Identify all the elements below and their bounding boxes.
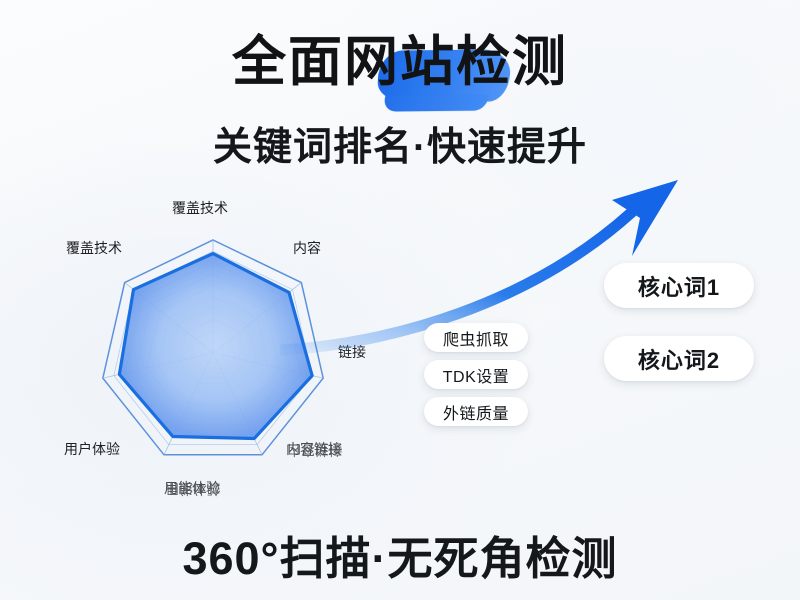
pill-backlink-label: 外链质量 bbox=[443, 400, 509, 424]
pill-keyword-2[interactable]: 核心词2 bbox=[604, 336, 754, 381]
radar-label-bottom-ghost: 用能体验 bbox=[166, 479, 221, 499]
radar-label-lower-right-ghost: 内容链接 bbox=[288, 440, 343, 460]
radar-label-lower-left: 用户体验 bbox=[64, 439, 120, 459]
radar-label-lower-right: 内容链接 内容链接 bbox=[286, 439, 342, 459]
pill-backlink-check[interactable]: 外链质量 bbox=[424, 397, 528, 426]
page-title: 全面网站检测 bbox=[232, 34, 568, 91]
bottom-caption: 360°扫描·无死角检测 bbox=[0, 522, 800, 587]
pill-crawl-check[interactable]: 爬虫抓取 bbox=[424, 323, 528, 352]
page-title-after: 检测 bbox=[456, 32, 568, 92]
radar-label-top: 覆盖技术 bbox=[172, 198, 228, 218]
poster-canvas: 全面网站检测 关键词排名·快速提升 覆盖技术 内容 bbox=[0, 0, 800, 600]
pill-keyword-1[interactable]: 核心词1 bbox=[604, 263, 754, 308]
radar-data-area bbox=[119, 254, 312, 439]
page-title-before: 全面 bbox=[232, 32, 344, 92]
pill-tdk-label: TDK设置 bbox=[443, 363, 510, 387]
radar-label-bottom: 用能体验 用能体验 bbox=[164, 478, 220, 498]
page-title-highlighted: 网站 bbox=[344, 32, 456, 92]
pill-keyword-1-label: 核心词1 bbox=[638, 270, 720, 302]
radar-chart: 覆盖技术 内容 链接 内容链接 内容链接 用能体验 用能体验 用户体验 覆盖技术 bbox=[28, 190, 408, 520]
pill-tdk-check[interactable]: TDK设置 bbox=[424, 360, 528, 389]
radar-label-upper-right: 内容 bbox=[293, 238, 321, 258]
radar-label-right: 链接 bbox=[338, 342, 366, 362]
growth-arrow-head bbox=[612, 180, 678, 256]
pill-crawl-label: 爬虫抓取 bbox=[443, 326, 509, 350]
page-subtitle: 关键词排名·快速提升 bbox=[0, 116, 800, 172]
pill-keyword-2-label: 核心词2 bbox=[638, 343, 720, 375]
title-block: 全面网站检测 bbox=[0, 34, 800, 91]
radar-label-upper-left: 覆盖技术 bbox=[66, 238, 122, 258]
